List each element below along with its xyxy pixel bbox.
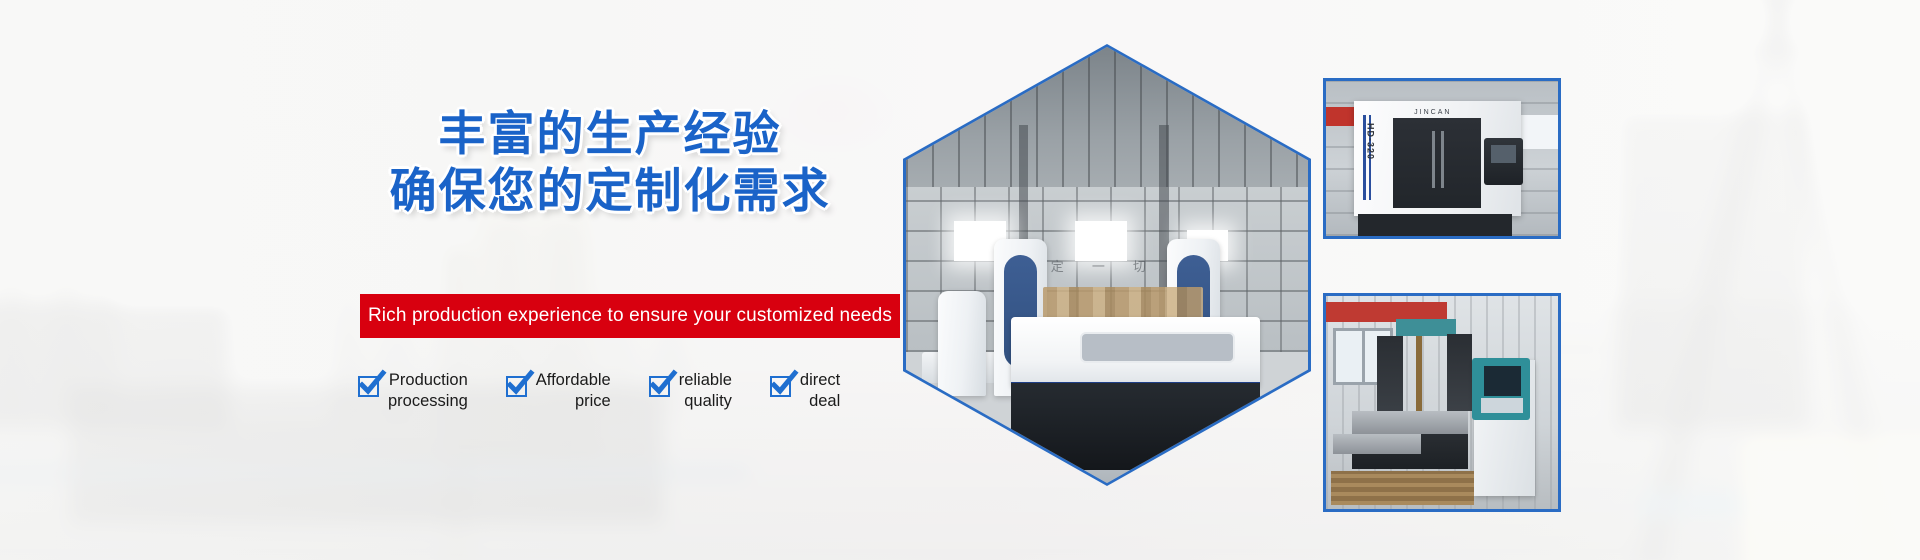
checkbox-checked-icon: [506, 376, 527, 397]
thumbnail-2-keypad: [1481, 398, 1523, 413]
thumbnail-2-worktable-lower: [1333, 434, 1421, 453]
subtitle-bar: Rich production experience to ensure you…: [360, 294, 900, 338]
workshop-window-2: [1075, 221, 1127, 260]
machine-body: [1011, 317, 1260, 387]
thumbnail-2-worktable-upper: [1352, 411, 1468, 434]
headline-line-1: 丰富的生产经验: [330, 106, 890, 163]
feature-label: reliable quality: [679, 370, 732, 411]
subtitle-text: Rich production experience to ensure you…: [368, 305, 892, 327]
thumbnail-1-window: [1521, 115, 1558, 149]
thumbnail-2-control-screen: [1484, 366, 1521, 396]
feature-item-affordable-price[interactable]: Affordable price: [506, 370, 611, 411]
feature-item-reliable-quality[interactable]: reliable quality: [649, 370, 732, 411]
checkbox-checked-icon: [358, 376, 379, 397]
thumbnail-machining-center[interactable]: JINCAN HD-320: [1323, 78, 1561, 239]
feature-label: Affordable price: [536, 370, 611, 411]
promo-banner: 丰富的生产经验 确保您的定制化需求 Rich production experi…: [0, 0, 1920, 560]
machine-column-1: [938, 291, 986, 396]
feature-list: Production processing Affordable price r…: [358, 370, 840, 411]
thumbnail-edm-machine[interactable]: [1323, 293, 1561, 512]
feature-item-direct-deal[interactable]: direct deal: [770, 370, 840, 411]
feature-item-production-processing[interactable]: Production processing: [358, 370, 468, 411]
checkbox-checked-icon: [770, 376, 791, 397]
thumbnail-1-control-screen: [1491, 145, 1517, 164]
thumbnail-1-plinth: [1358, 214, 1511, 236]
thumbnail-1-brand-label: JINCAN: [1414, 109, 1451, 116]
thumbnail-1-model-label: HD-320: [1365, 123, 1375, 160]
thumbnail-2-wooden-pallet: [1331, 471, 1475, 505]
thumbnail-2-gantry-right: [1447, 334, 1473, 411]
headline: 丰富的生产经验 确保您的定制化需求: [330, 106, 890, 221]
thumbnail-1-machine-doors: [1393, 118, 1481, 208]
feature-label: direct deal: [800, 370, 840, 411]
workshop-wall-sign: 定 一 切: [1051, 256, 1158, 275]
checkbox-checked-icon: [649, 376, 670, 397]
machine-viewing-window: [1080, 332, 1235, 363]
thumbnail-2-gantry-left: [1377, 336, 1403, 421]
feature-label: Production processing: [388, 370, 468, 411]
headline-line-2: 确保您的定制化需求: [330, 163, 890, 220]
